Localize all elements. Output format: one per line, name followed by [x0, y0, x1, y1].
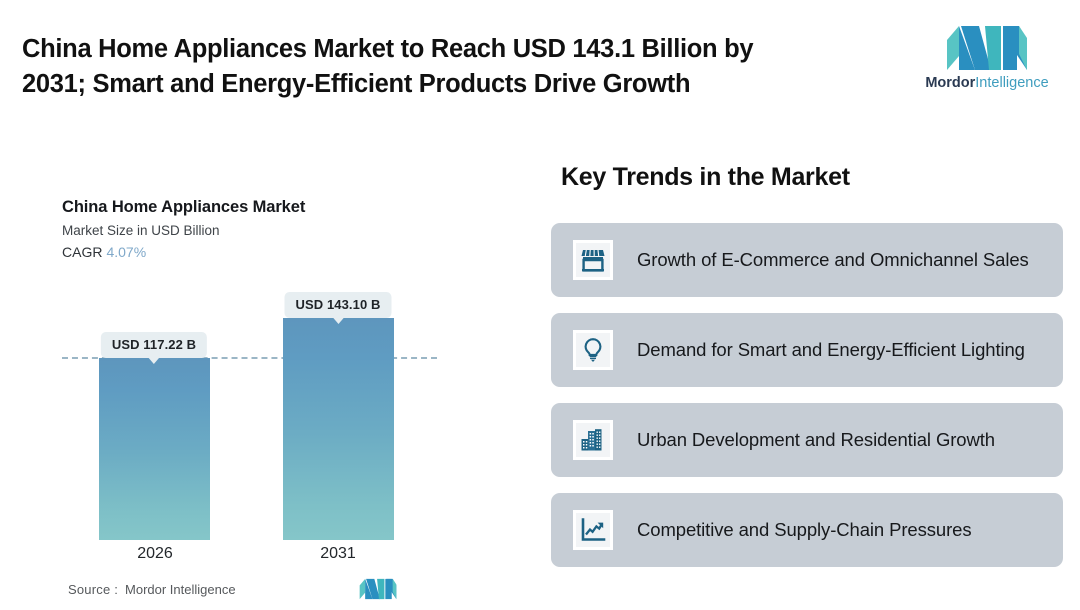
source-label: Source :: [68, 582, 118, 597]
x-axis-tick-2026: 2026: [137, 545, 173, 563]
bar-2026: [99, 358, 210, 540]
page-title: China Home Appliances Market to Reach US…: [22, 32, 882, 101]
lightbulb-icon: [573, 330, 613, 370]
trend-card-ecommerce[interactable]: Growth of E-Commerce and Omnichannel Sal…: [551, 223, 1063, 297]
source-value: Mordor Intelligence: [125, 582, 236, 597]
trends-heading: Key Trends in the Market: [561, 163, 850, 192]
bar-2031: [283, 318, 394, 540]
trend-label: Urban Development and Residential Growth: [637, 427, 995, 454]
mordor-m-logo-icon: [945, 24, 1029, 72]
bar-value-label-2031: USD 143.10 B: [284, 292, 391, 318]
market-size-chart: China Home Appliances Market Market Size…: [0, 150, 520, 610]
brand-name-light: Intelligence: [975, 75, 1048, 91]
brand-logo: MordorIntelligence: [912, 24, 1062, 102]
key-trends-panel: Key Trends in the Market Growth of E-Com…: [551, 155, 1071, 610]
city-buildings-icon: [573, 420, 613, 460]
mordor-m-logo-icon: [358, 578, 398, 600]
line-chart-up-icon: [573, 510, 613, 550]
trend-card-lighting[interactable]: Demand for Smart and Energy-Efficient Li…: [551, 313, 1063, 387]
plot-area: USD 117.22 B USD 143.10 B 2026 2031: [0, 150, 520, 610]
storefront-icon: [573, 240, 613, 280]
brand-name-bold: Mordor: [925, 75, 975, 91]
trend-card-supply-chain[interactable]: Competitive and Supply-Chain Pressures: [551, 493, 1063, 567]
trend-label: Competitive and Supply-Chain Pressures: [637, 517, 972, 544]
trend-label: Demand for Smart and Energy-Efficient Li…: [637, 337, 1025, 364]
x-axis-tick-2031: 2031: [320, 545, 356, 563]
bar-value-label-2026: USD 117.22 B: [101, 332, 207, 358]
brand-wordmark: MordorIntelligence: [925, 76, 1048, 91]
trends-list: Growth of E-Commerce and Omnichannel Sal…: [551, 223, 1063, 583]
chart-source: Source :Mordor Intelligence: [68, 582, 236, 597]
trend-label: Growth of E-Commerce and Omnichannel Sal…: [637, 247, 1029, 274]
trend-card-urban-development[interactable]: Urban Development and Residential Growth: [551, 403, 1063, 477]
